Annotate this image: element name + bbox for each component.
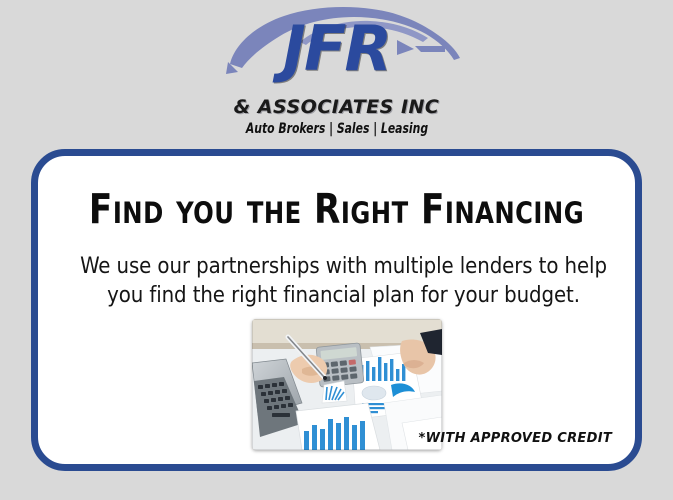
financial-documents-photo — [252, 319, 442, 450]
body-text: We use our partnerships with multiple le… — [60, 252, 627, 311]
disclaimer-text: *WITH APPROVED CREDIT — [419, 431, 612, 446]
brand-tagline: Auto Brokers | Sales | Leasing — [212, 122, 461, 136]
brand-logo-inner: JFR & ASSOCIATES INC Auto Brokers | Sale… — [192, 2, 482, 144]
photo-illustration — [252, 319, 442, 450]
brand-wordmark: JFR — [192, 18, 482, 80]
page-title: Find you the Right Financing — [59, 189, 614, 230]
brand-logo: JFR & ASSOCIATES INC Auto Brokers | Sale… — [0, 0, 673, 146]
promo-card: Find you the Right Financing We use our … — [31, 149, 642, 471]
brand-subtitle: & ASSOCIATES INC — [192, 98, 482, 117]
